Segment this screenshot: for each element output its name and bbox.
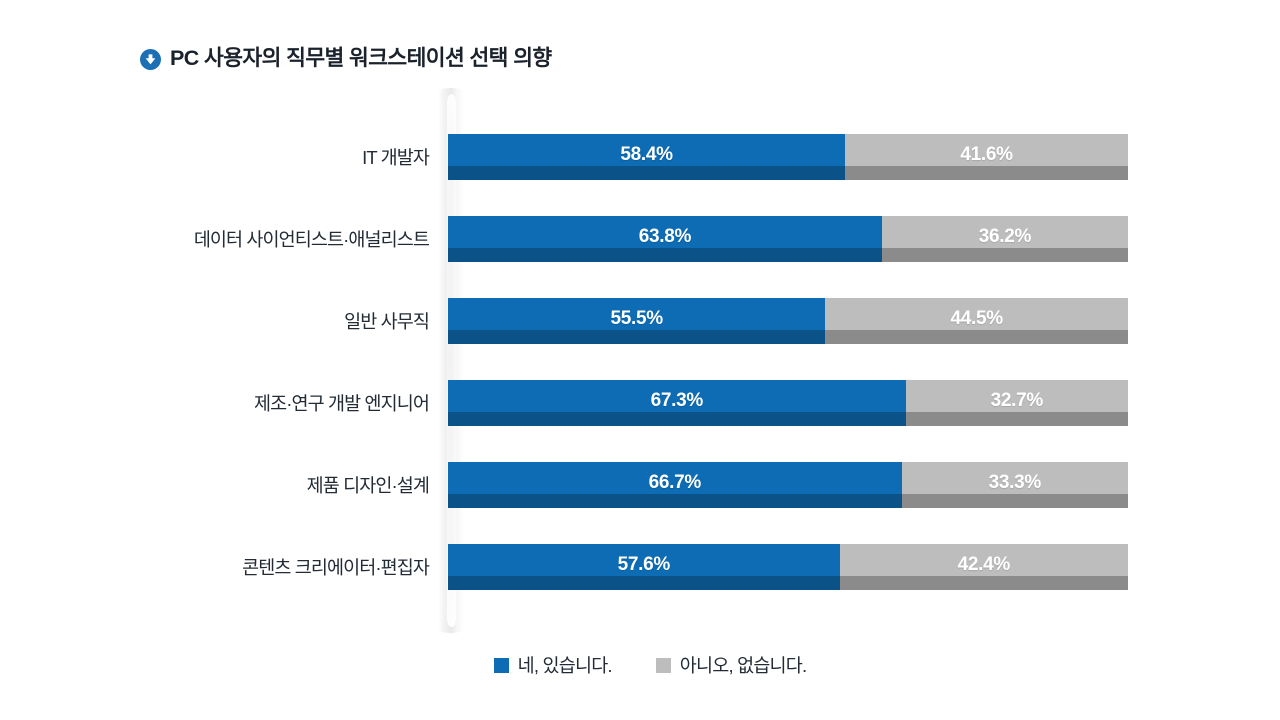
bar-segment-yes[interactable]: 66.7% (448, 462, 902, 508)
stacked-bar: 55.5% 44.5% (448, 298, 1128, 344)
circle-down-arrow-icon (140, 49, 161, 70)
category-label: 콘텐츠 크리에이터·편집자 (108, 544, 438, 590)
stacked-bar: 67.3% 32.7% (448, 380, 1128, 426)
legend-swatch-no-icon (656, 658, 671, 673)
bar-value-label: 44.5% (951, 308, 1003, 330)
bar-value-label: 66.7% (649, 472, 701, 494)
bar-segment-no[interactable]: 36.2% (882, 216, 1128, 262)
legend-swatch-yes-icon (494, 658, 509, 673)
bar-segment-yes[interactable]: 55.5% (448, 298, 825, 344)
stacked-bar: 63.8% 36.2% (448, 216, 1128, 262)
category-label: 제품 디자인·설계 (108, 462, 438, 508)
bar-segment-yes[interactable]: 57.6% (448, 544, 840, 590)
chart-row: 데이터 사이언티스트·애널리스트 63.8% 36.2% (0, 216, 1280, 262)
bar-segment-yes[interactable]: 67.3% (448, 380, 906, 426)
stacked-bar: 58.4% 41.6% (448, 134, 1128, 180)
bar-value-label: 57.6% (618, 554, 670, 576)
bar-value-label: 67.3% (651, 390, 703, 412)
chart-row: 일반 사무직 55.5% 44.5% (0, 298, 1280, 344)
category-label: 데이터 사이언티스트·애널리스트 (108, 216, 438, 262)
legend-label-no: 아니오, 없습니다. (680, 652, 807, 678)
bar-value-label: 33.3% (989, 472, 1041, 494)
bar-value-label: 58.4% (620, 144, 672, 166)
stacked-bar: 66.7% 33.3% (448, 462, 1128, 508)
legend-label-yes: 네, 있습니다. (518, 652, 612, 678)
bar-value-label: 41.6% (960, 144, 1012, 166)
category-label: 제조·연구 개발 엔지니어 (108, 380, 438, 426)
bar-value-label: 55.5% (611, 308, 663, 330)
bar-segment-no[interactable]: 44.5% (825, 298, 1128, 344)
bar-segment-no[interactable]: 41.6% (845, 134, 1128, 180)
chart-legend: 네, 있습니다. 아니오, 없습니다. (0, 652, 1280, 678)
legend-item-yes[interactable]: 네, 있습니다. (494, 652, 612, 678)
stacked-bar: 57.6% 42.4% (448, 544, 1128, 590)
chart-row: 제조·연구 개발 엔지니어 67.3% 32.7% (0, 380, 1280, 426)
chart-header: PC 사용자의 직무별 워크스테이션 선택 의향 (140, 44, 552, 74)
category-label: IT 개발자 (108, 134, 438, 180)
page-title: PC 사용자의 직무별 워크스테이션 선택 의향 (170, 48, 552, 70)
bar-value-label: 36.2% (979, 226, 1031, 248)
bar-segment-no[interactable]: 32.7% (906, 380, 1128, 426)
bar-value-label: 42.4% (958, 554, 1010, 576)
chart-row: 제품 디자인·설계 66.7% 33.3% (0, 462, 1280, 508)
bar-segment-no[interactable]: 42.4% (840, 544, 1128, 590)
bar-segment-yes[interactable]: 58.4% (448, 134, 845, 180)
chart-container: PC 사용자의 직무별 워크스테이션 선택 의향 IT 개발자 58.4% 41… (0, 0, 1280, 720)
chart-row: IT 개발자 58.4% 41.6% (0, 134, 1280, 180)
bar-value-label: 32.7% (991, 390, 1043, 412)
bar-segment-no[interactable]: 33.3% (902, 462, 1128, 508)
chart-row: 콘텐츠 크리에이터·편집자 57.6% 42.4% (0, 544, 1280, 590)
bar-segment-yes[interactable]: 63.8% (448, 216, 882, 262)
legend-item-no[interactable]: 아니오, 없습니다. (656, 652, 807, 678)
plot-area: IT 개발자 58.4% 41.6% 데이터 사이언티스트·애널리스트 63.8… (0, 88, 1280, 633)
bar-value-label: 63.8% (639, 226, 691, 248)
category-label: 일반 사무직 (108, 298, 438, 344)
